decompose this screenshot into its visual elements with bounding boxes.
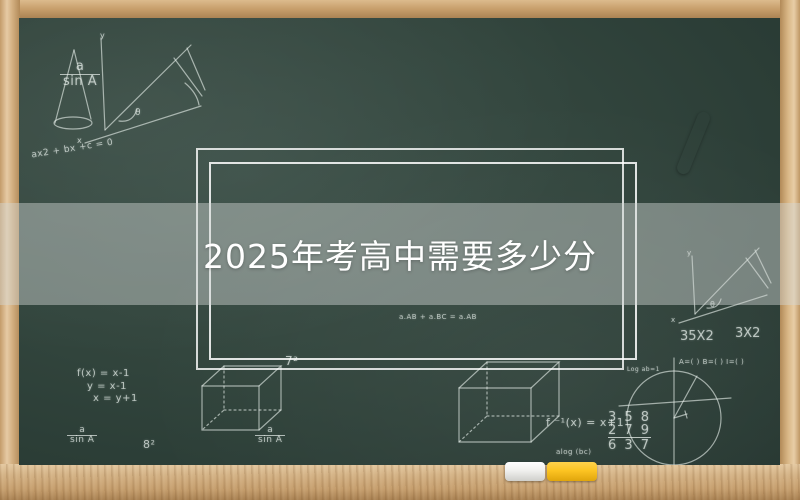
white-chalk-stick-ledge — [505, 462, 545, 481]
chalk-quadratic-equation: ax2 + bx +c = 0 — [31, 138, 114, 161]
page-title: 2025年考高中需要多少分 — [0, 203, 800, 305]
chalk-matrix-note: A=( ) B=( ) I=( ) — [679, 358, 744, 366]
chalk-fraction-a-sin-a: a sin A — [60, 60, 100, 89]
fraction-denominator: sin A — [60, 75, 100, 89]
chalk-multiply-3x2: 3X2 — [735, 326, 760, 341]
chalk-function-lines: f(x) = x-1 y = x-1 x = y+1 — [77, 368, 138, 406]
chalk-log-small: Log ab=1 — [627, 366, 660, 373]
fraction-denominator: sin A — [255, 436, 285, 445]
frame-top-edge — [0, 0, 800, 18]
frame-bottom-ledge — [0, 464, 800, 500]
addition-bottom: 2 7 9 — [608, 424, 651, 437]
yellow-chalk-stick-ledge — [547, 462, 597, 481]
chalk-axis-y-label: y — [100, 31, 105, 40]
fraction-denominator: sin A — [67, 436, 97, 445]
yellow-chalk-stick-board — [675, 110, 712, 176]
fraction-numerator: a — [60, 60, 100, 75]
chalk-multiply-35x2: 35X2 — [680, 329, 714, 344]
chalk-function-line-3: x = y+1 — [77, 393, 138, 406]
chalk-axis-x-label-right: x — [671, 316, 676, 324]
addition-sum: 6 3 7 — [608, 437, 651, 452]
chalk-log-alog: alog (bc) — [556, 448, 591, 456]
chalk-angle-theta: θ — [135, 108, 141, 118]
chalk-power-eight: 8² — [143, 438, 155, 451]
chalk-function-line-1: f(x) = x-1 — [77, 368, 138, 381]
screenshot-stage: a sin A y x θ ax2 + bx +c = 0 y x θ 35X2… — [0, 0, 800, 500]
chalk-addition-problem: 3 5 8 2 7 9 6 3 7 — [608, 411, 651, 452]
chalk-fraction-mid: a sin A — [255, 426, 285, 446]
chalk-fraction-left: a sin A — [67, 426, 97, 446]
chalk-function-line-2: y = x-1 — [77, 381, 138, 394]
